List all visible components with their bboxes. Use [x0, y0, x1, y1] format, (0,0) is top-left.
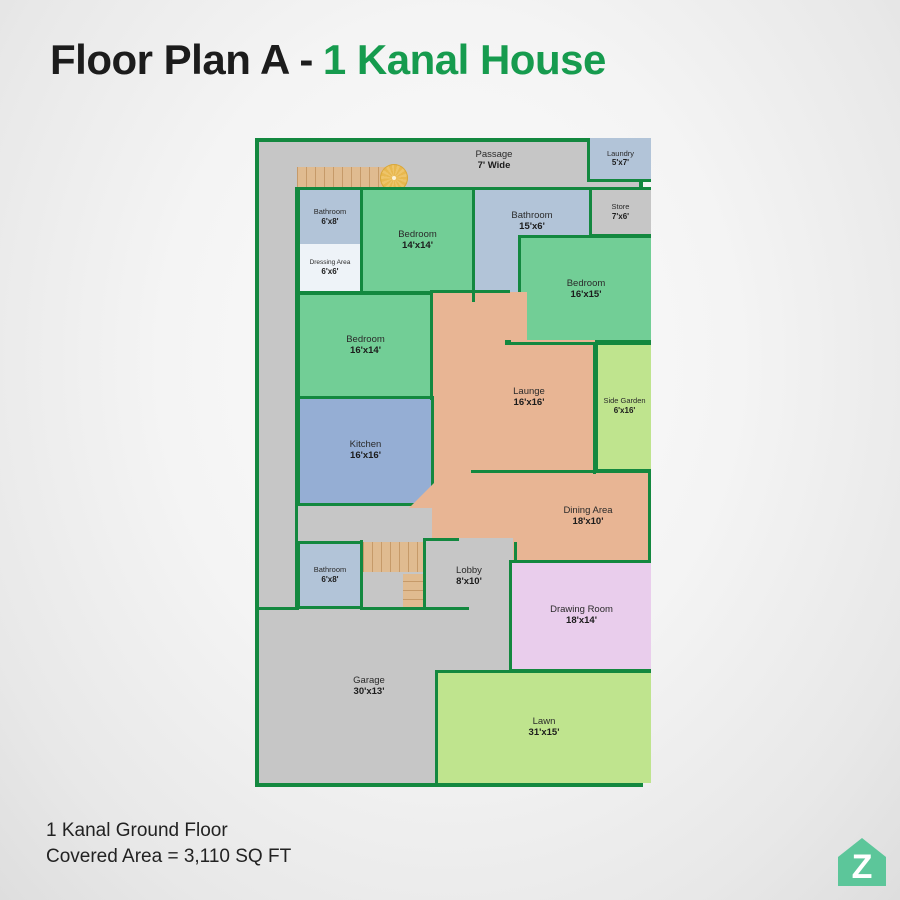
wall-lounge-garden-divider	[593, 342, 596, 474]
wall-lounge-top-stub	[432, 290, 510, 293]
room-garage-dim: 30'x13'	[354, 687, 385, 698]
room-bedroom-16x14: Bedroom 16'x14'	[297, 292, 434, 399]
wall-dining-top	[471, 470, 651, 473]
room-dining-area: Dining Area 18'x10'	[525, 472, 651, 562]
room-dressing-area-dim: 6'x6'	[321, 267, 338, 276]
room-bedroom-16x14-dim: 16'x14'	[350, 346, 381, 357]
wall-bedroom16x15-bottom	[505, 342, 651, 345]
wall-stairs-left	[360, 540, 363, 610]
room-bathroom-15x6-dim: 15'x6'	[519, 222, 545, 233]
room-store-dim: 7'x6'	[612, 212, 629, 221]
room-bathroom-top-left-name: Bathroom	[314, 208, 347, 217]
room-store: Store 7'x6'	[587, 187, 651, 237]
upper-staircase	[297, 167, 387, 189]
caption-block: 1 Kanal Ground Floor Covered Area = 3,11…	[46, 818, 291, 869]
room-side-garden: Side Garden 6'x16'	[595, 340, 651, 472]
room-laundry-dim: 5'x7'	[612, 158, 629, 167]
room-bedroom-14x14-name: Bedroom	[398, 230, 437, 241]
wall-lounge-left-mid	[430, 350, 433, 400]
room-dining-area-dim: 18'x10'	[573, 517, 604, 528]
page-title: Floor Plan A -1 Kanal House	[50, 36, 606, 84]
page-title-accent: 1 Kanal House	[323, 36, 606, 83]
room-dressing-area: Dressing Area 6'x6'	[297, 244, 363, 294]
wall-lobby-bottom	[363, 607, 469, 610]
room-garage-name: Garage	[353, 676, 385, 687]
room-side-garden-name: Side Garden	[603, 397, 645, 406]
room-kitchen-dim: 16'x16'	[350, 451, 381, 462]
lower-staircase	[363, 542, 423, 572]
room-dressing-area-name: Dressing Area	[310, 259, 351, 266]
room-laundry-name: Laundry	[607, 150, 634, 159]
room-lobby-dim: 8'x10'	[456, 577, 482, 588]
wall-lounge-right-stub	[505, 340, 511, 345]
room-bedroom-16x15: Bedroom 16'x15'	[518, 235, 651, 345]
room-laundry: Laundry 5'x7'	[587, 138, 651, 182]
room-passage: Passage 7' Wide	[439, 146, 549, 176]
wall-lobby-left	[423, 540, 426, 610]
caption-line-1: 1 Kanal Ground Floor	[46, 818, 291, 844]
zameen-logo[interactable]: Z	[836, 836, 888, 888]
wall-passage-left-inner	[295, 187, 298, 609]
room-bathroom-top-left: Bathroom 6'x8'	[297, 187, 363, 247]
lower-staircase-return	[403, 574, 423, 609]
wall-bathroom15x6-divider	[472, 187, 475, 302]
room-lounge-upper-wing	[432, 292, 507, 352]
wall-lawn-top	[435, 670, 651, 673]
room-drawing-room-dim: 18'x14'	[566, 616, 597, 627]
room-lawn-name: Lawn	[533, 717, 556, 728]
wall-lounge-left-upper	[430, 290, 433, 352]
room-bathroom-bottom-left-dim: 6'x8'	[321, 575, 338, 584]
room-drawing-room: Drawing Room 18'x14'	[509, 560, 651, 672]
room-passage-name: Passage	[476, 150, 513, 161]
room-bathroom-top-left-dim: 6'x8'	[321, 217, 338, 226]
wall-lobby-top	[423, 538, 459, 541]
room-store-name: Store	[612, 203, 630, 212]
room-bedroom-14x14-dim: 14'x14'	[402, 241, 433, 252]
room-lawn-dim: 31'x15'	[529, 728, 560, 739]
wall-plan-bottom-left	[259, 607, 299, 610]
room-bathroom-bottom-left: Bathroom 6'x8'	[297, 541, 363, 609]
room-kitchen: Kitchen 16'x16'	[297, 396, 434, 506]
house-logo-icon: Z	[836, 836, 888, 888]
room-lawn: Lawn 31'x15'	[437, 672, 651, 783]
room-bedroom-16x14-name: Bedroom	[346, 335, 385, 346]
wall-dining-right	[648, 470, 651, 564]
room-bedroom-14x14: Bedroom 14'x14'	[360, 187, 475, 294]
room-bedroom-16x15-dim: 16'x15'	[571, 290, 602, 301]
logo-letter: Z	[852, 848, 873, 886]
room-passage-dim: 7' Wide	[478, 161, 511, 172]
room-garage: Garage 30'x13'	[314, 672, 424, 702]
wall-lawn-left	[435, 672, 438, 783]
caption-line-2: Covered Area = 3,110 SQ FT	[46, 844, 291, 870]
floor-plan-canvas: Passage 7' Wide Laundry 5'x7' Store 7'x6…	[255, 138, 643, 787]
page-title-main: Floor Plan A -	[50, 36, 313, 83]
room-lobby: Lobby 8'x10'	[425, 538, 513, 610]
room-side-garden-dim: 6'x16'	[614, 406, 636, 415]
room-bathroom-bottom-left-name: Bathroom	[314, 566, 347, 575]
room-bathroom-15x6-name: Bathroom	[511, 211, 552, 222]
